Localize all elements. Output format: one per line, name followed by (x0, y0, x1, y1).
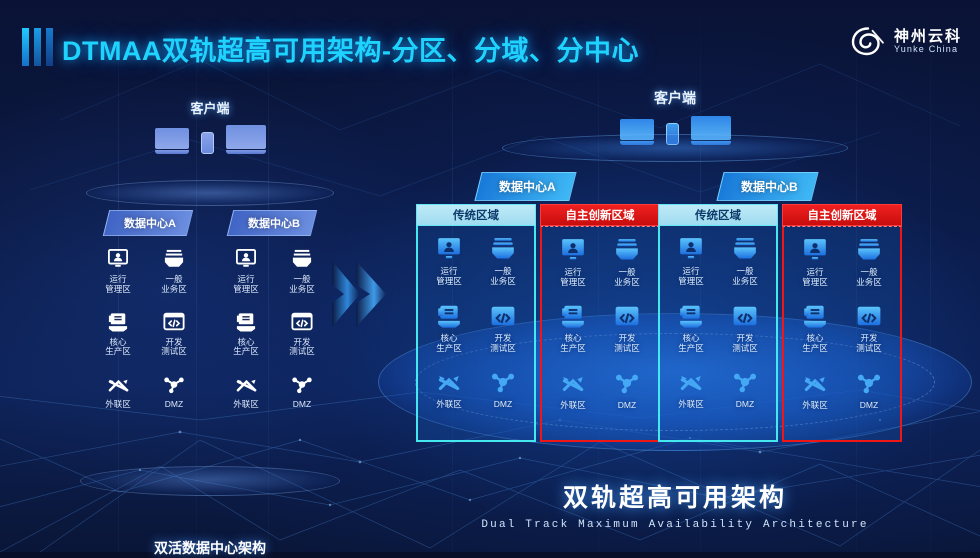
zone-cell[interactable]: 核心 生产区 (664, 301, 718, 368)
zone-label: 开发 测试区 (842, 333, 896, 353)
zone-cell[interactable]: 外联区 (90, 371, 146, 410)
brand-logo: 神州云科 Yunke China (850, 24, 962, 60)
zone-cell[interactable]: 开发 测试区 (600, 301, 654, 367)
code-window-icon (146, 309, 202, 335)
zone-cell[interactable]: DMZ (842, 368, 896, 434)
zone-cell[interactable]: 外联区 (788, 368, 842, 434)
datacenter-badge-a[interactable]: 数据中心A (474, 172, 576, 201)
zone-cell[interactable]: 核心 生产区 (90, 309, 146, 358)
monitor-user-icon (422, 234, 476, 264)
zone-cell[interactable]: 一般 业务区 (842, 235, 896, 301)
zone-label: 核心 生产区 (90, 338, 146, 358)
inbox-tray-icon (600, 235, 654, 265)
network-nodes-icon (146, 371, 202, 397)
zone-cell[interactable]: 运行 管理区 (90, 246, 146, 295)
server-core-icon (788, 301, 842, 331)
zone-cell[interactable]: 运行 管理区 (422, 234, 476, 301)
zone-label: 核心 生产区 (218, 338, 274, 358)
left-architecture-diagram: 客户端 数据中心A 数据中心B 运行 管理区 一般 (86, 98, 334, 468)
zone-cell[interactable]: DMZ (476, 367, 530, 434)
network-nodes-icon (476, 367, 530, 397)
server-core-icon (664, 301, 718, 331)
right-datacenter-a-header: 数据中心A (478, 172, 573, 201)
server-core-icon (90, 309, 146, 335)
zone-label: DMZ (274, 400, 330, 410)
crossing-arrows-icon (422, 367, 476, 397)
zone-cell[interactable]: 外联区 (664, 367, 718, 434)
region-title: 传统区域 (658, 204, 778, 226)
right-architecture-diagram: 客户端 数据中心A 数据中心B 传统区域 运行 管理区 一般 业务区 核心 生产… (382, 88, 968, 508)
title-accent-bars-icon (22, 28, 53, 66)
monitor-user-icon (664, 234, 718, 264)
datacenter-badge-b[interactable]: 数据中心B (227, 210, 317, 236)
right-datacenter-b-header: 数据中心B (720, 172, 815, 201)
code-window-icon (476, 301, 530, 331)
zone-cell[interactable]: 开发 测试区 (146, 309, 202, 358)
zone-label: 一般 业务区 (600, 267, 654, 287)
crossing-arrows-icon (546, 368, 600, 398)
zone-cell[interactable]: 运行 管理区 (546, 235, 600, 301)
page-header: DTMAA双轨超高可用架构-分区、分域、分中心 神州云科 Yunke China (0, 0, 980, 88)
zone-label: 运行 管理区 (664, 266, 718, 286)
left-base-platform (80, 466, 340, 496)
server-core-icon (218, 309, 274, 335)
zone-cell[interactable]: DMZ (274, 371, 330, 410)
region-b-traditional[interactable]: 传统区域 运行 管理区 一般 业务区 核心 生产区 开发 测试区 外联区 DMZ (658, 204, 778, 442)
zone-label: 核心 生产区 (788, 333, 842, 353)
region-zone-grid: 运行 管理区 一般 业务区 核心 生产区 开发 测试区 外联区 DMZ (658, 226, 778, 442)
left-client-devices (86, 125, 334, 154)
datacenter-badge-b[interactable]: 数据中心B (716, 172, 818, 201)
datacenter-badge-a-label: 数据中心A (124, 215, 176, 231)
zone-label: 外联区 (664, 399, 718, 409)
left-client-label: 客户端 (86, 98, 334, 117)
zone-label: 外联区 (546, 400, 600, 410)
region-title: 传统区域 (416, 204, 536, 226)
zone-cell[interactable]: 核心 生产区 (788, 301, 842, 367)
inbox-tray-icon (718, 234, 772, 264)
zone-cell[interactable]: DMZ (146, 371, 202, 410)
zone-label: 运行 管理区 (788, 267, 842, 287)
zone-cell[interactable]: 运行 管理区 (664, 234, 718, 301)
zone-label: 外联区 (90, 400, 146, 410)
zone-cell[interactable]: 核心 生产区 (218, 309, 274, 358)
zone-cell[interactable]: 一般 业务区 (274, 246, 330, 295)
inbox-tray-icon (842, 235, 896, 265)
monitor-user-icon (788, 235, 842, 265)
right-client-platform (502, 134, 848, 162)
datacenter-badge-b-label: 数据中心B (248, 215, 300, 231)
logo-name-cn: 神州云科 (894, 29, 962, 45)
crossing-arrows-icon (218, 371, 274, 397)
zone-label: 开发 测试区 (600, 333, 654, 353)
left-datacenter-a-zones: 运行 管理区 一般 业务区 核心 生产区 开发 测试区 (90, 246, 202, 410)
zone-label: 核心 生产区 (664, 333, 718, 353)
zone-label: DMZ (146, 400, 202, 410)
zone-label: 一般 业务区 (476, 266, 530, 286)
code-window-icon (842, 301, 896, 331)
region-title: 自主创新区域 (540, 204, 660, 226)
zone-cell[interactable]: 核心 生产区 (546, 301, 600, 367)
datacenter-badge-a-label: 数据中心A (499, 178, 556, 195)
left-zone-grid: 运行 管理区 一般 业务区 核心 生产区 开发 测试区 (90, 246, 330, 410)
zone-cell[interactable]: 开发 测试区 (718, 301, 772, 368)
zone-cell[interactable]: 开发 测试区 (274, 309, 330, 358)
network-nodes-icon (842, 368, 896, 398)
network-nodes-icon (600, 368, 654, 398)
zone-label: 一般 业务区 (718, 266, 772, 286)
zone-label: 外联区 (422, 399, 476, 409)
zone-label: 开发 测试区 (146, 338, 202, 358)
region-title: 自主创新区域 (782, 204, 902, 226)
region-zone-grid: 运行 管理区 一般 业务区 核心 生产区 开发 测试区 外联区 DMZ (416, 226, 536, 442)
network-nodes-icon (718, 367, 772, 397)
zone-cell[interactable]: 一般 业务区 (718, 234, 772, 301)
inbox-tray-icon (476, 234, 530, 264)
datacenter-badge-a[interactable]: 数据中心A (103, 210, 193, 236)
code-window-icon (718, 301, 772, 331)
zone-cell[interactable]: 运行 管理区 (218, 246, 274, 295)
page-title: DTMAA双轨超高可用架构-分区、分域、分中心 (62, 29, 639, 68)
zone-label: DMZ (718, 399, 772, 409)
zone-cell[interactable]: 一般 业务区 (600, 235, 654, 301)
code-window-icon (274, 309, 330, 335)
zone-cell[interactable]: 外联区 (422, 367, 476, 434)
zone-label: 开发 测试区 (476, 333, 530, 353)
zone-label: 外联区 (218, 400, 274, 410)
monitor-user-icon (90, 246, 146, 272)
zone-label: 一般 业务区 (146, 275, 202, 295)
phone-icon (201, 132, 214, 154)
right-diagram-caption: 双轨超高可用架构 Dual Track Maximum Availability… (382, 478, 968, 531)
zone-label: 运行 管理区 (546, 267, 600, 287)
code-window-icon (600, 301, 654, 331)
inbox-tray-icon (274, 246, 330, 272)
zone-label: 运行 管理区 (90, 275, 146, 295)
zone-label: DMZ (600, 400, 654, 410)
left-datacenter-b-zones: 运行 管理区 一般 业务区 核心 生产区 开发 测试区 (218, 246, 330, 410)
region-zone-grid: 运行 管理区 一般 业务区 核心 生产区 开发 测试区 外联区 DMZ (540, 226, 660, 442)
galaxy-swirl-icon (850, 24, 886, 60)
crossing-arrows-icon (664, 367, 718, 397)
zone-label: 核心 生产区 (422, 333, 476, 353)
logo-name-en: Yunke China (894, 45, 962, 54)
region-b-innovation[interactable]: 自主创新区域 运行 管理区 一般 业务区 核心 生产区 开发 测试区 外联区 D… (782, 204, 902, 442)
zone-label: 核心 生产区 (546, 333, 600, 353)
region-a-innovation[interactable]: 自主创新区域 运行 管理区 一般 业务区 核心 生产区 开发 测试区 外联区 D… (540, 204, 660, 442)
zone-cell[interactable]: 运行 管理区 (788, 235, 842, 301)
zone-cell[interactable]: DMZ (718, 367, 772, 434)
server-core-icon (546, 301, 600, 331)
zone-label: 开发 测试区 (718, 333, 772, 353)
laptop-icon (155, 128, 189, 154)
crossing-arrows-icon (90, 371, 146, 397)
inbox-tray-icon (146, 246, 202, 272)
right-client-label: 客户端 (382, 88, 968, 108)
left-datacenter-badges: 数据中心A 数据中心B (86, 210, 334, 236)
zone-cell[interactable]: 一般 业务区 (476, 234, 530, 301)
datacenter-badge-b-label: 数据中心B (741, 178, 798, 195)
zone-label: DMZ (842, 400, 896, 410)
zone-cell[interactable]: 一般 业务区 (146, 246, 202, 295)
zone-label: DMZ (476, 399, 530, 409)
region-zone-grid: 运行 管理区 一般 业务区 核心 生产区 开发 测试区 外联区 DMZ (782, 226, 902, 442)
zone-cell[interactable]: 外联区 (546, 368, 600, 434)
zone-label: 开发 测试区 (274, 338, 330, 358)
left-diagram-caption: 双活数据中心架构 (86, 538, 334, 558)
zone-cell[interactable]: DMZ (600, 368, 654, 434)
zone-label: 运行 管理区 (422, 266, 476, 286)
monitor-user-icon (218, 246, 274, 272)
left-client-platform (86, 180, 334, 206)
zone-label: 外联区 (788, 400, 842, 410)
zone-cell[interactable]: 开发 测试区 (842, 301, 896, 367)
zone-label: 一般 业务区 (842, 267, 896, 287)
laptop-icon (226, 125, 266, 154)
zone-cell[interactable]: 外联区 (218, 371, 274, 410)
zone-cell[interactable]: 开发 测试区 (476, 301, 530, 368)
crossing-arrows-icon (788, 368, 842, 398)
monitor-user-icon (546, 235, 600, 265)
zone-label: 运行 管理区 (218, 275, 274, 295)
caption-cn: 双轨超高可用架构 (382, 478, 968, 514)
zone-cell[interactable]: 核心 生产区 (422, 301, 476, 368)
server-core-icon (422, 301, 476, 331)
network-nodes-icon (274, 371, 330, 397)
zone-label: 一般 业务区 (274, 275, 330, 295)
region-a-traditional[interactable]: 传统区域 运行 管理区 一般 业务区 核心 生产区 开发 测试区 外联区 DMZ (416, 204, 536, 442)
caption-en: Dual Track Maximum Availability Architec… (382, 519, 968, 531)
